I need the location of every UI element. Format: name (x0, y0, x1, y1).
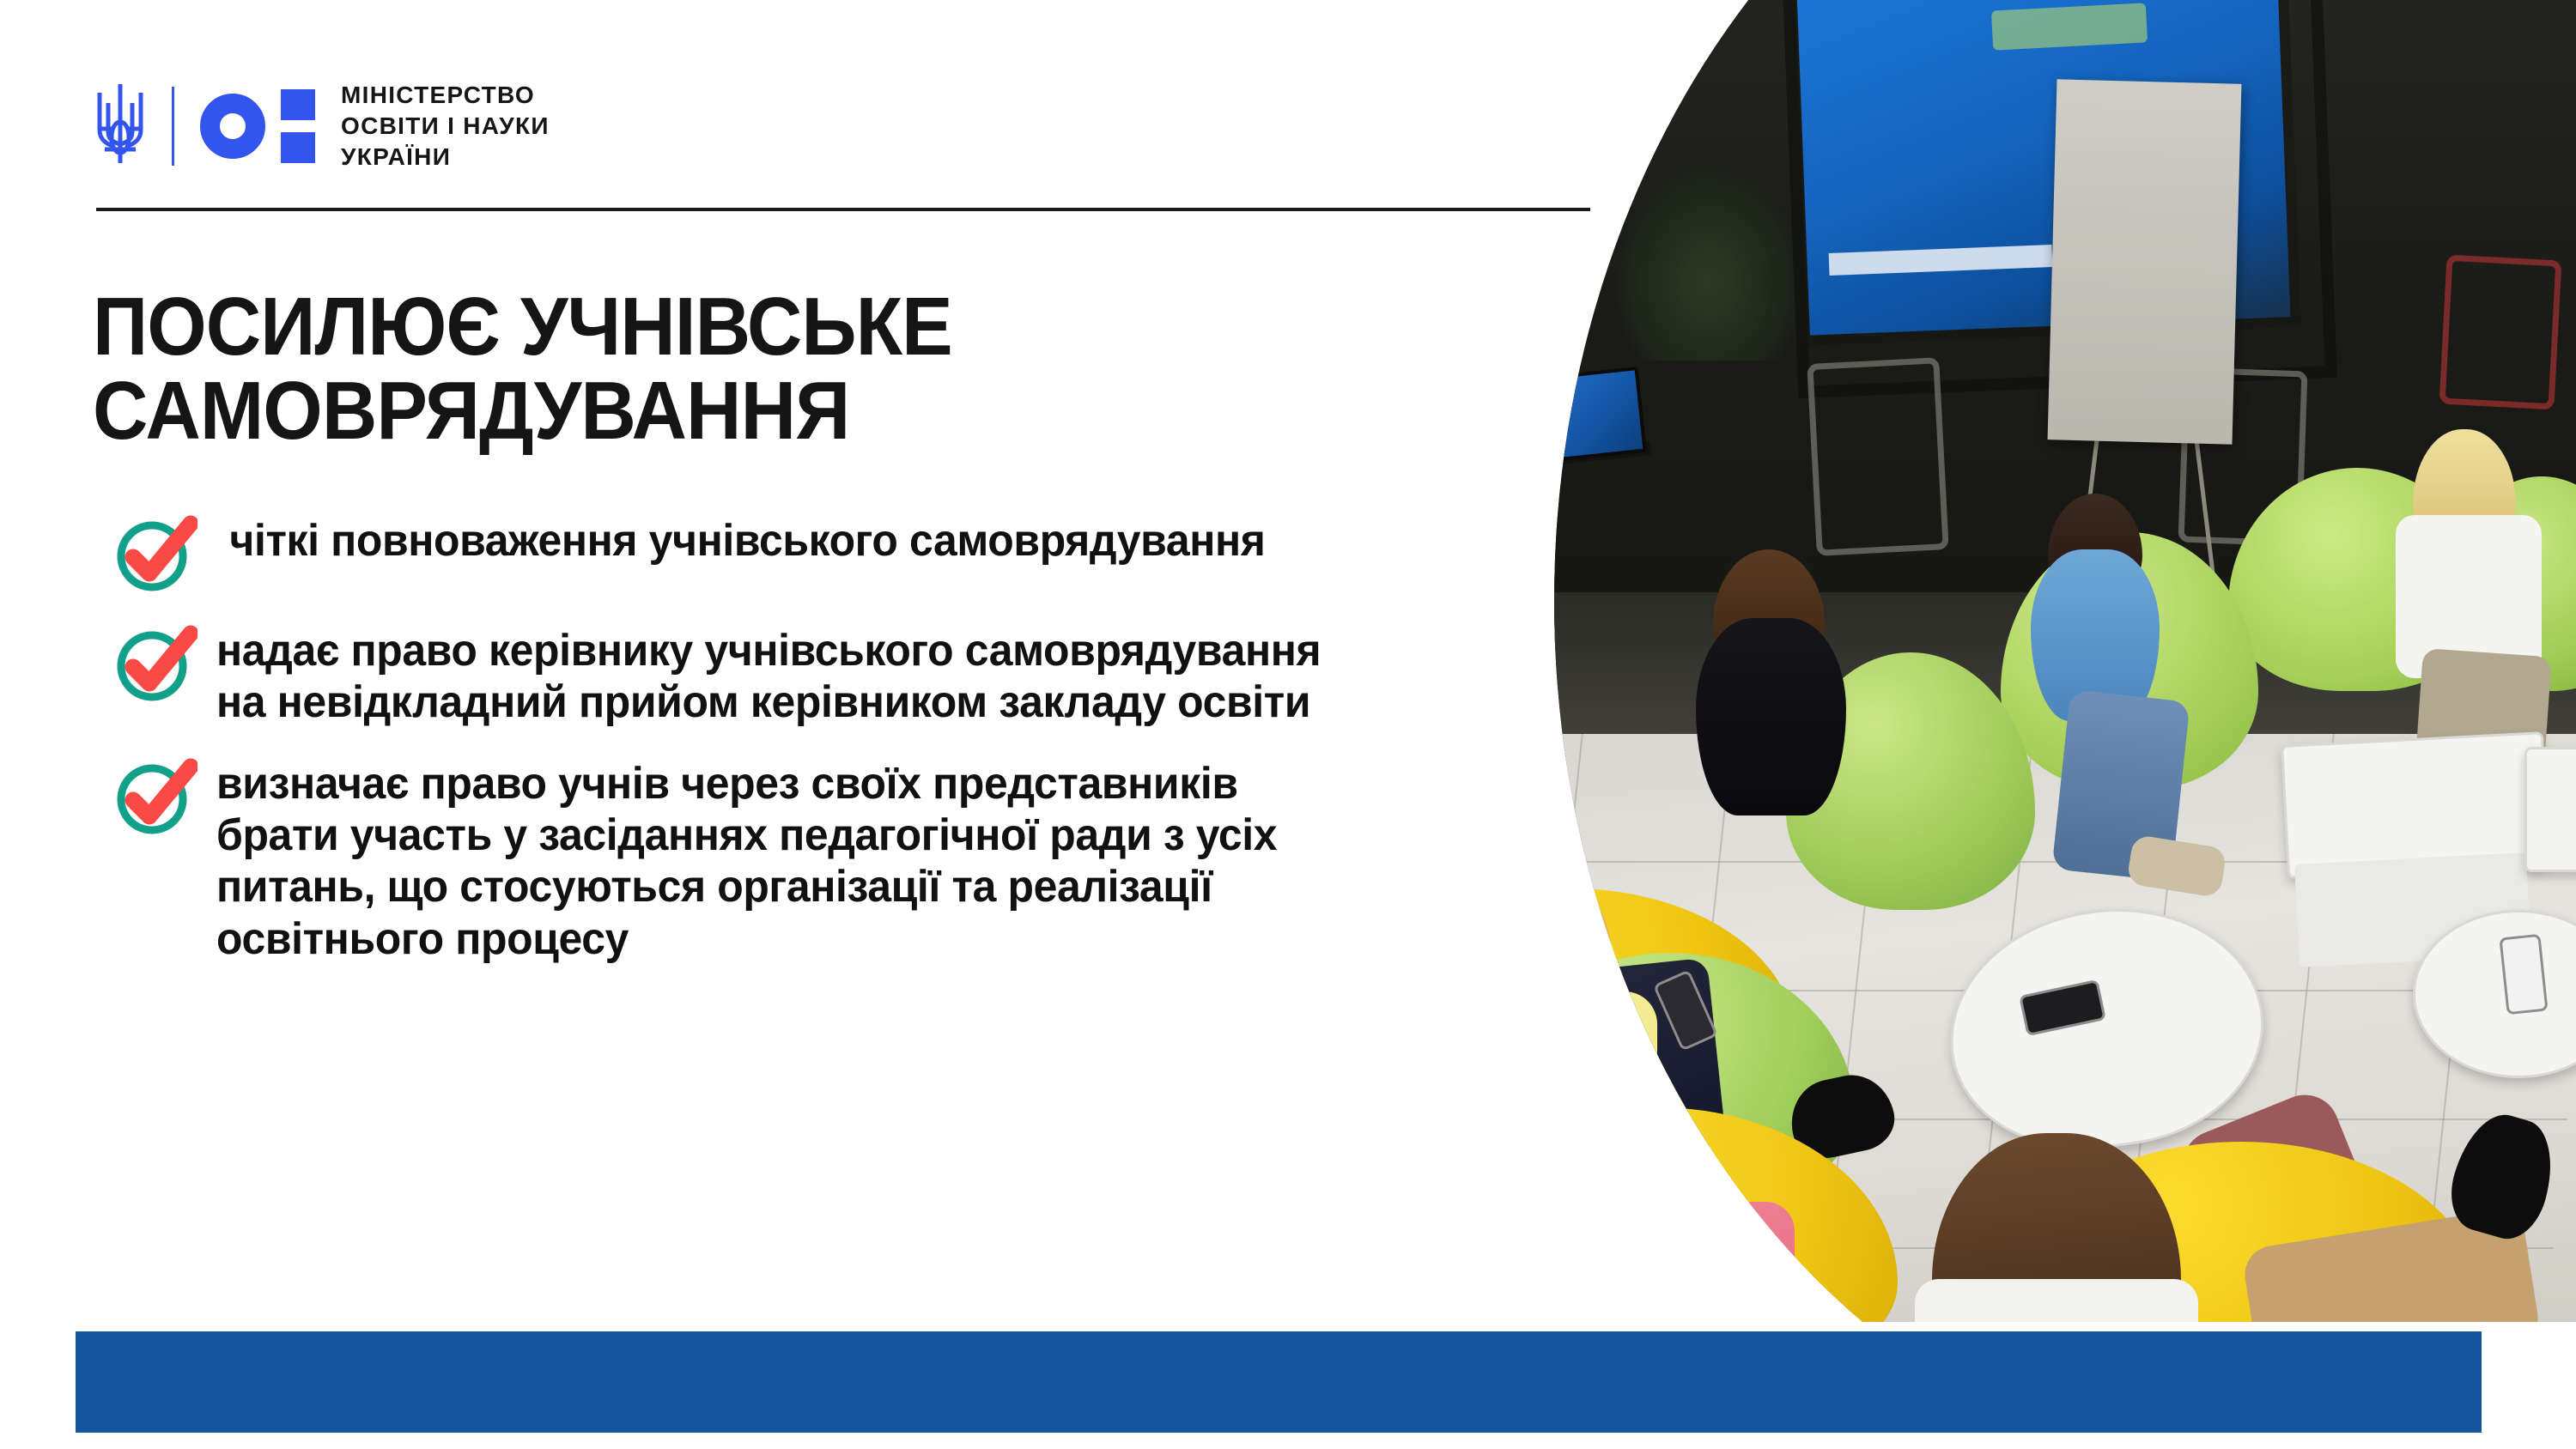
header-divider (96, 208, 1590, 211)
ministry-line-1: МІНІСТЕРСТВО (341, 83, 550, 107)
list-item-label: чіткі повноваження учнівського самовряду… (216, 515, 1265, 567)
mon-o-colon-mark-icon (200, 89, 315, 163)
list-item-label: визначає право учнів через своїх предста… (216, 758, 1369, 965)
students-meeting-photo (1400, 0, 2576, 1322)
list-item: чіткі повноваження учнівського самовряду… (112, 515, 1417, 596)
list-item-label: надає право керівнику учнівського самовр… (216, 625, 1369, 729)
ministry-name: МІНІСТЕРСТВО ОСВІТИ І НАУКИ УКРАЇНИ (341, 83, 550, 169)
page-title: ПОСИЛЮЄ УЧНІВСЬКЕ САМОВРЯДУВАННЯ (93, 285, 1211, 453)
logo-separator (172, 87, 174, 166)
ministry-logo: МІНІСТЕРСТВО ОСВІТИ І НАУКИ УКРАЇНИ (93, 79, 550, 173)
slide: МІНІСТЕРСТВО ОСВІТИ І НАУКИ УКРАЇНИ ПОСИ… (0, 0, 2576, 1449)
footer-bar (76, 1331, 2482, 1433)
ministry-line-2: ОСВІТИ І НАУКИ (341, 114, 550, 138)
check-circle-icon (112, 620, 197, 706)
ukraine-trident-icon (93, 79, 148, 173)
check-circle-icon (112, 753, 197, 839)
list-item: визначає право учнів через своїх предста… (112, 758, 1417, 965)
ministry-line-3: УКРАЇНИ (341, 145, 550, 169)
list-item: надає право керівнику учнівського самовр… (112, 625, 1417, 729)
check-circle-icon (112, 510, 197, 596)
bullet-list: чіткі повноваження учнівського самовряду… (112, 515, 1417, 994)
